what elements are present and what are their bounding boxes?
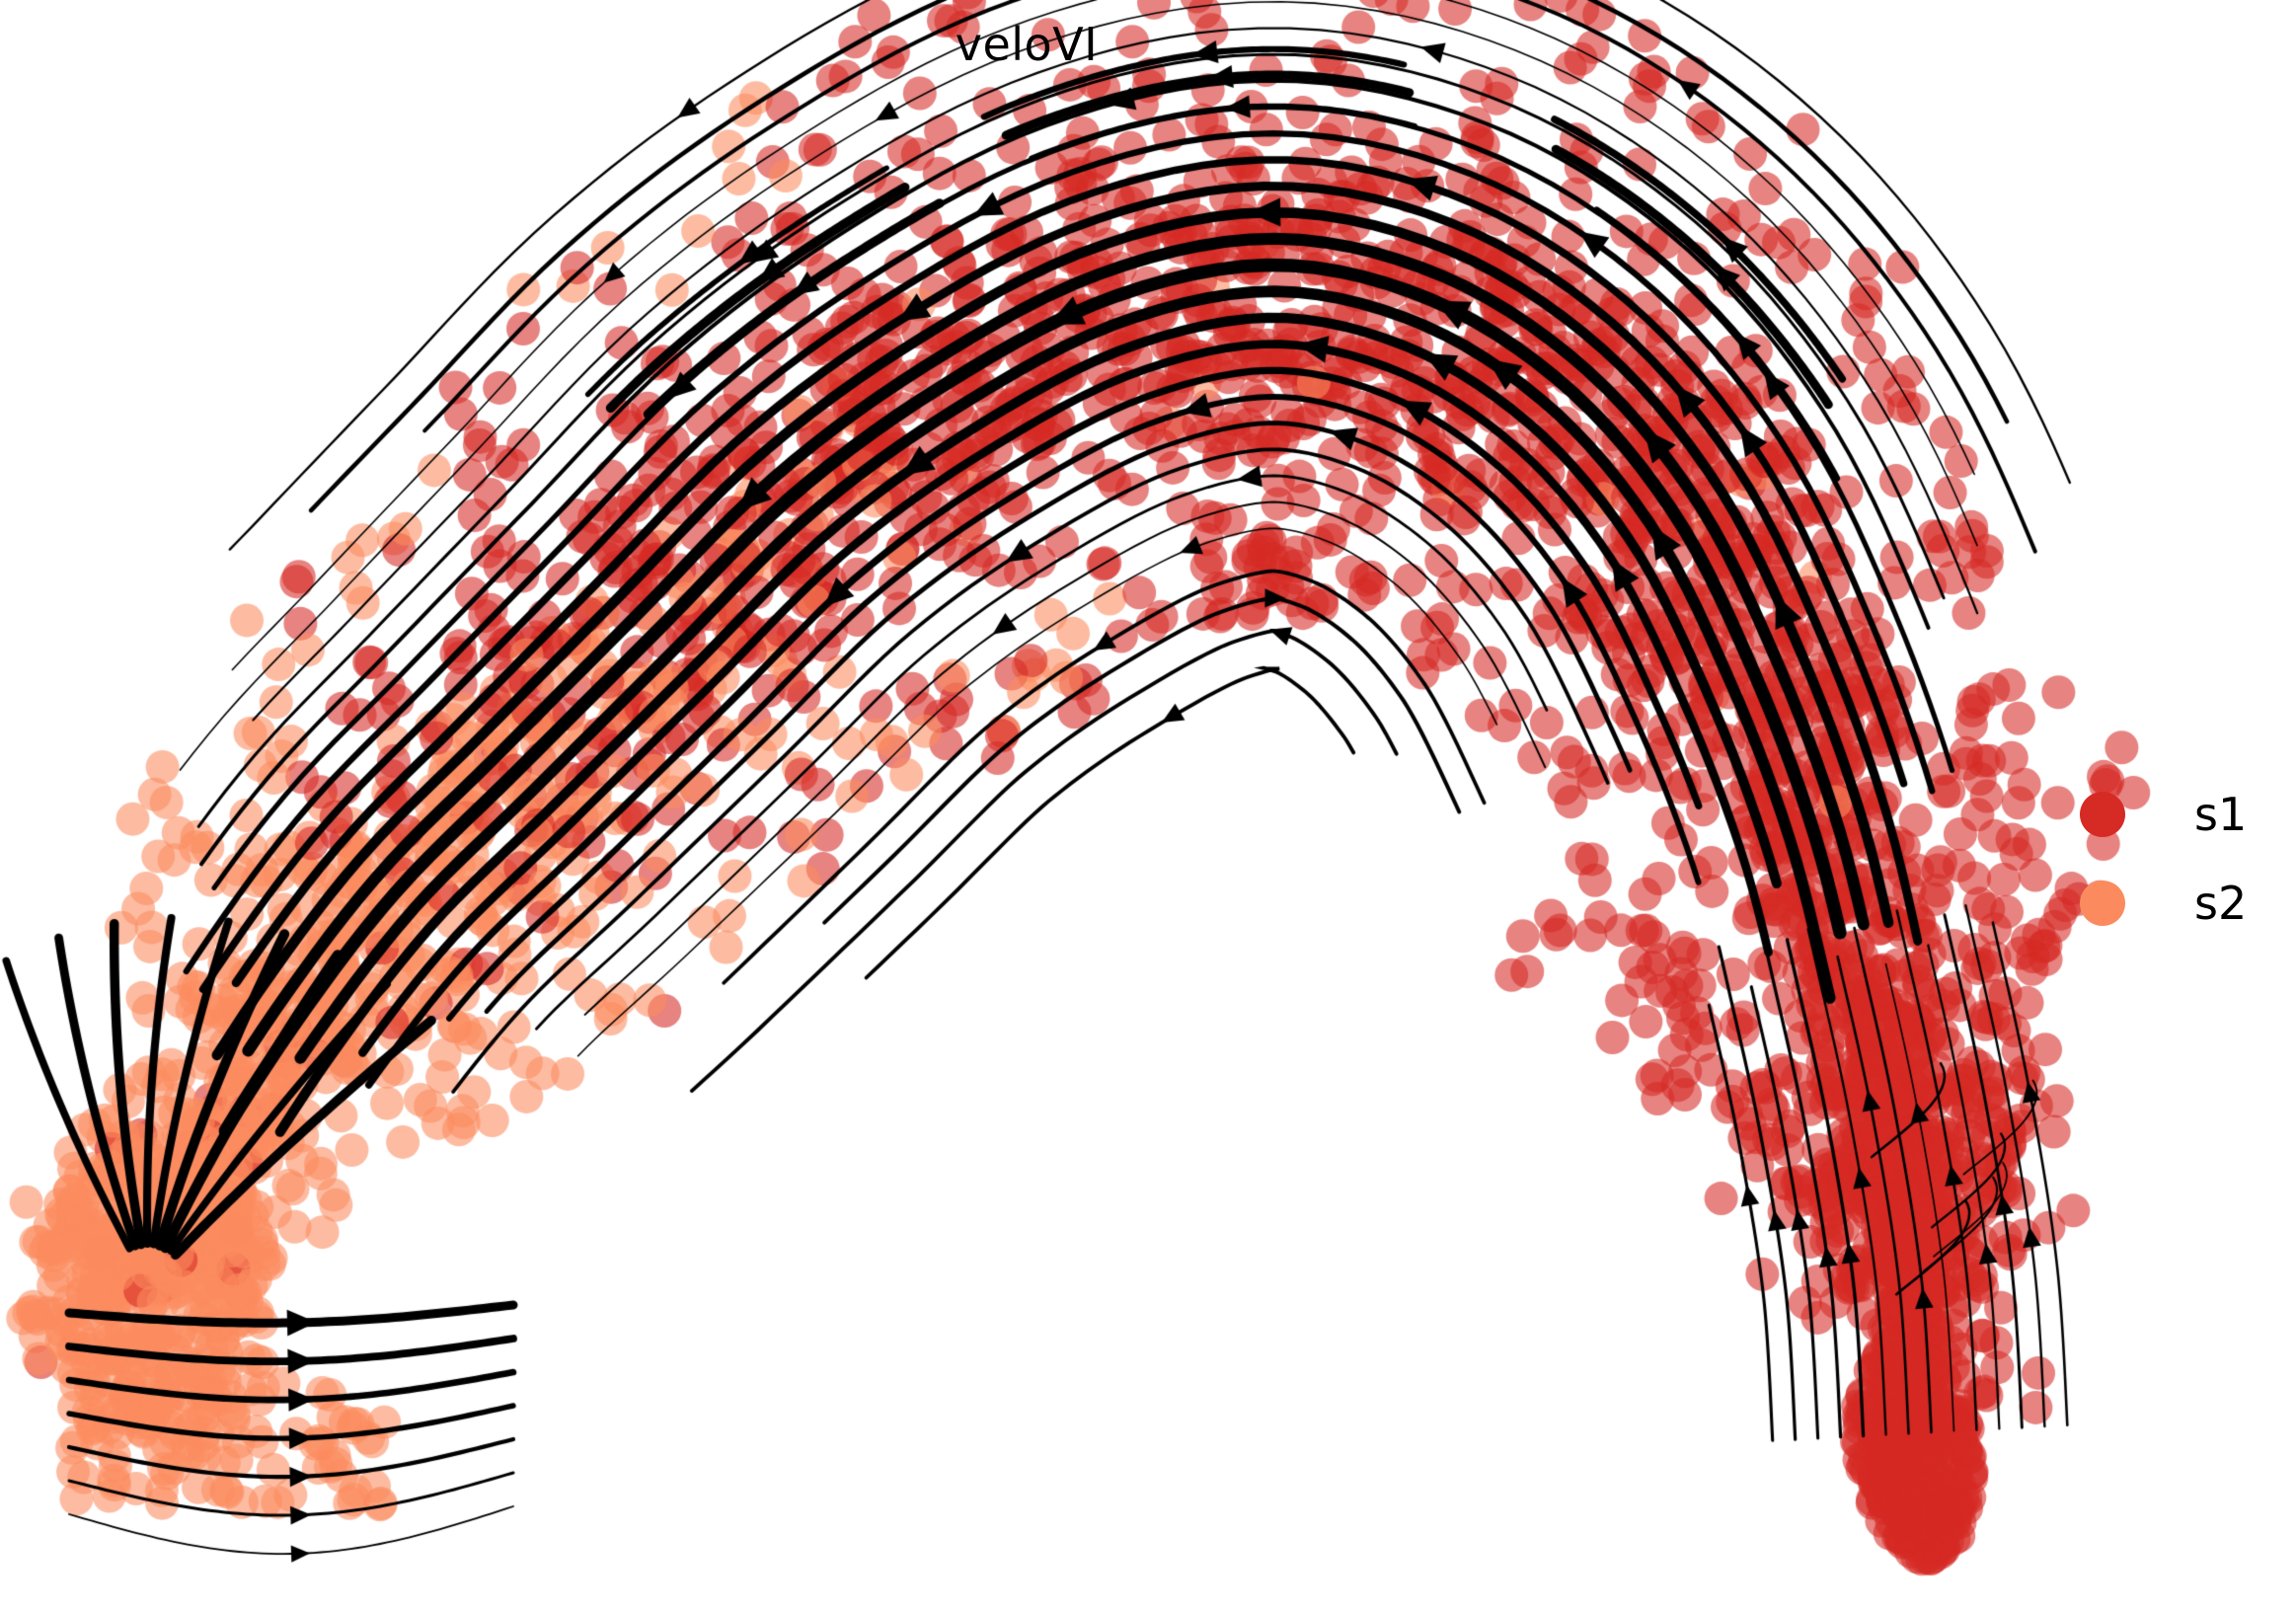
velocity-streamplot-figure: veloVI s1 s2 bbox=[0, 0, 2296, 1612]
legend: s1 s2 bbox=[2068, 770, 2295, 948]
legend-label-s1: s1 bbox=[2194, 792, 2247, 837]
plot-title: veloVI bbox=[0, 18, 2053, 71]
scatter-streamplot-canvas bbox=[0, 0, 2296, 1612]
legend-label-s2: s2 bbox=[2194, 881, 2247, 926]
legend-marker-s2 bbox=[2080, 881, 2125, 926]
legend-item-s2[interactable]: s2 bbox=[2068, 859, 2295, 948]
legend-item-s1[interactable]: s1 bbox=[2068, 770, 2295, 859]
legend-marker-s1 bbox=[2080, 792, 2125, 837]
